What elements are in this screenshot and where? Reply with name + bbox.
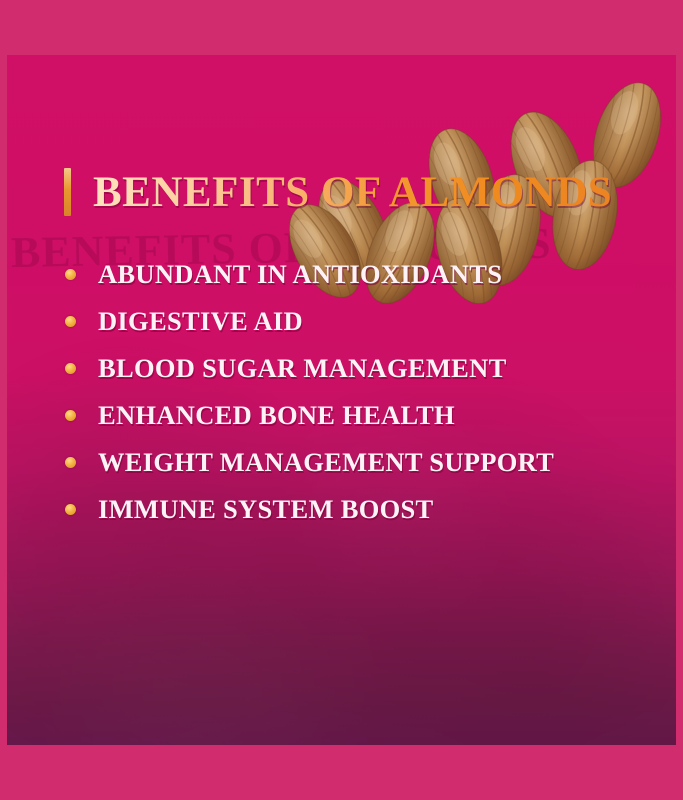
bullet-dot-icon xyxy=(65,504,76,515)
list-item-label: DIGESTIVE AID xyxy=(98,306,303,337)
bullet-dot-icon xyxy=(65,457,76,468)
right-border-strip xyxy=(676,0,683,800)
list-item-label: IMMUNE SYSTEM BOOST xyxy=(98,494,434,525)
poster-panel: BENEFITS OF ALMONDS xyxy=(7,55,676,745)
title-text: BENEFITS OF ALMONDS xyxy=(93,171,612,214)
list-item: IMMUNE SYSTEM BOOST xyxy=(65,486,645,533)
top-border-strip xyxy=(0,0,683,55)
list-item-label: WEIGHT MANAGEMENT SUPPORT xyxy=(98,447,554,478)
page-title: BENEFITS OF ALMONDS xyxy=(64,168,612,216)
list-item: WEIGHT MANAGEMENT SUPPORT xyxy=(65,439,645,486)
list-item: ENHANCED BONE HEALTH xyxy=(65,392,645,439)
accent-bar-icon xyxy=(64,168,71,216)
bottom-border-strip xyxy=(0,745,683,800)
list-item-label: ENHANCED BONE HEALTH xyxy=(98,400,455,431)
bullet-dot-icon xyxy=(65,410,76,421)
list-item-label: ABUNDANT IN ANTIOXIDANTS xyxy=(98,259,502,290)
bullet-dot-icon xyxy=(65,363,76,374)
list-item: DIGESTIVE AID xyxy=(65,298,645,345)
list-item: ABUNDANT IN ANTIOXIDANTS xyxy=(65,251,645,298)
list-item: BLOOD SUGAR MANAGEMENT xyxy=(65,345,645,392)
bullet-dot-icon xyxy=(65,269,76,280)
benefits-list: ABUNDANT IN ANTIOXIDANTS DIGESTIVE AID B… xyxy=(65,251,645,533)
bullet-dot-icon xyxy=(65,316,76,327)
poster-canvas: BENEFITS OF ALMONDS xyxy=(0,0,683,800)
list-item-label: BLOOD SUGAR MANAGEMENT xyxy=(98,353,507,384)
left-border-strip xyxy=(0,0,7,800)
